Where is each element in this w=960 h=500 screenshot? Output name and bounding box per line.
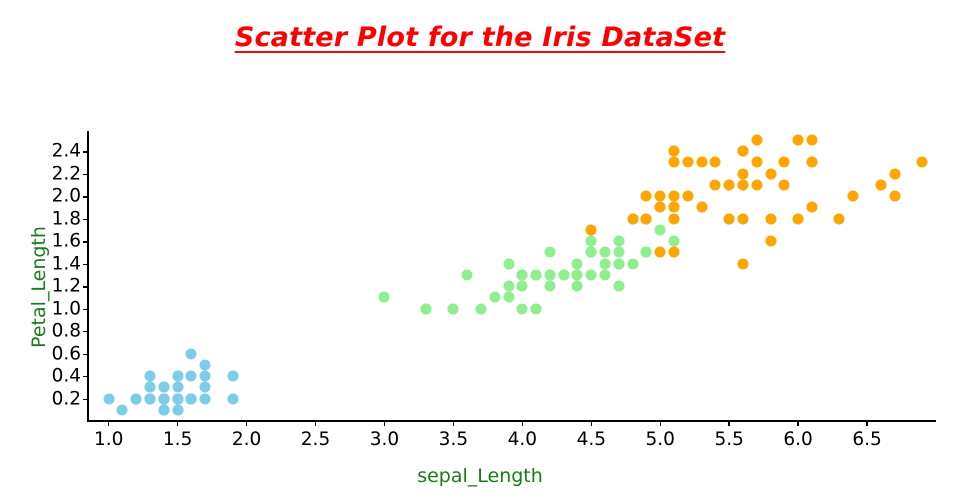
x-tick-label: 2.5 [301, 429, 330, 450]
scatter-point [669, 157, 680, 168]
scatter-point [117, 404, 128, 415]
x-tick-label: 3.5 [439, 429, 468, 450]
scatter-point [544, 247, 555, 258]
y-tick-label: 0.4 [52, 366, 81, 387]
scatter-point [103, 393, 114, 404]
scatter-point [737, 258, 748, 269]
scatter-point [669, 247, 680, 258]
scatter-point [462, 269, 473, 280]
y-tick-mark [83, 376, 88, 377]
scatter-point [586, 224, 597, 235]
y-tick-label: 2.2 [52, 163, 81, 184]
y-tick-label: 0.8 [52, 321, 81, 342]
scatter-point [200, 371, 211, 382]
y-axis-label: Petal_Length [28, 207, 50, 367]
scatter-point [586, 247, 597, 258]
y-tick-mark [83, 174, 88, 175]
scatter-point [172, 393, 183, 404]
scatter-point [586, 269, 597, 280]
scatter-point [682, 191, 693, 202]
x-tick-mark [591, 421, 592, 426]
y-tick-label: 2.0 [52, 186, 81, 207]
scatter-point [641, 213, 652, 224]
scatter-point [158, 404, 169, 415]
scatter-point [737, 146, 748, 157]
x-tick-mark [177, 421, 178, 426]
scatter-point [475, 303, 486, 314]
scatter-point [889, 191, 900, 202]
scatter-point [544, 281, 555, 292]
y-tick-mark [83, 331, 88, 332]
scatter-point [145, 371, 156, 382]
scatter-point [145, 393, 156, 404]
scatter-point [572, 281, 583, 292]
scatter-point [379, 292, 390, 303]
y-tick-mark [83, 219, 88, 220]
x-tick-label: 6.0 [783, 429, 812, 450]
scatter-point [186, 393, 197, 404]
x-tick-label: 5.0 [646, 429, 675, 450]
scatter-point [613, 236, 624, 247]
scatter-point [710, 157, 721, 168]
scatter-point [806, 157, 817, 168]
x-tick-label: 6.5 [852, 429, 881, 450]
scatter-point [558, 269, 569, 280]
scatter-point [669, 202, 680, 213]
scatter-point [600, 269, 611, 280]
scatter-point [200, 382, 211, 393]
x-tick-label: 5.5 [714, 429, 743, 450]
x-tick-label: 3.0 [370, 429, 399, 450]
scatter-point [517, 281, 528, 292]
scatter-point [448, 303, 459, 314]
x-tick-mark [797, 421, 798, 426]
scatter-point [503, 281, 514, 292]
scatter-point [737, 168, 748, 179]
x-tick-mark [866, 421, 867, 426]
scatter-point [145, 382, 156, 393]
scatter-point [793, 134, 804, 145]
scatter-point [682, 157, 693, 168]
x-tick-label: 2.0 [232, 429, 261, 450]
scatter-point [172, 371, 183, 382]
y-tick-label: 0.2 [52, 388, 81, 409]
scatter-point [669, 213, 680, 224]
x-tick-mark [453, 421, 454, 426]
y-tick-label: 1.6 [52, 231, 81, 252]
scatter-point [613, 258, 624, 269]
scatter-point [503, 292, 514, 303]
scatter-point [751, 157, 762, 168]
scatter-point [641, 191, 652, 202]
scatter-point [806, 134, 817, 145]
x-tick-label: 1.0 [94, 429, 123, 450]
scatter-point [200, 359, 211, 370]
scatter-point [669, 191, 680, 202]
x-tick-mark [660, 421, 661, 426]
scatter-point [724, 179, 735, 190]
x-tick-mark [315, 421, 316, 426]
x-axis-label: sepal_Length [0, 465, 960, 487]
x-tick-mark [728, 421, 729, 426]
scatter-point [779, 157, 790, 168]
x-tick-label: 4.5 [577, 429, 606, 450]
scatter-point [158, 393, 169, 404]
scatter-point [531, 303, 542, 314]
scatter-point [627, 258, 638, 269]
scatter-point [572, 258, 583, 269]
scatter-point [655, 191, 666, 202]
scatter-plot-figure: Scatter Plot for the Iris DataSet 0.20.4… [0, 0, 960, 500]
scatter-point [737, 213, 748, 224]
scatter-point [696, 202, 707, 213]
scatter-point [420, 303, 431, 314]
y-tick-mark [83, 399, 88, 400]
scatter-point [186, 348, 197, 359]
scatter-point [806, 202, 817, 213]
y-tick-mark [83, 196, 88, 197]
scatter-point [917, 157, 928, 168]
x-tick-mark [384, 421, 385, 426]
x-tick-mark [522, 421, 523, 426]
x-tick-label: 1.5 [163, 429, 192, 450]
scatter-point [531, 269, 542, 280]
scatter-point [517, 303, 528, 314]
scatter-point [489, 292, 500, 303]
scatter-point [172, 404, 183, 415]
scatter-point [586, 236, 597, 247]
scatter-point [751, 179, 762, 190]
scatter-point [600, 247, 611, 258]
y-tick-mark [83, 354, 88, 355]
y-tick-label: 1.8 [52, 208, 81, 229]
scatter-point [669, 146, 680, 157]
y-tick-mark [83, 151, 88, 152]
y-tick-label: 2.4 [52, 141, 81, 162]
scatter-point [710, 179, 721, 190]
y-tick-label: 0.6 [52, 343, 81, 364]
scatter-point [655, 202, 666, 213]
y-tick-mark [83, 286, 88, 287]
scatter-point [627, 213, 638, 224]
scatter-point [834, 213, 845, 224]
y-tick-mark [83, 309, 88, 310]
y-tick-mark [83, 241, 88, 242]
y-tick-label: 1.4 [52, 253, 81, 274]
scatter-point [613, 281, 624, 292]
chart-title: Scatter Plot for the Iris DataSet [0, 22, 960, 53]
scatter-point [765, 168, 776, 179]
scatter-point [544, 269, 555, 280]
scatter-point [641, 247, 652, 258]
scatter-point [848, 191, 859, 202]
scatter-point [751, 134, 762, 145]
scatter-point [186, 371, 197, 382]
scatter-point [200, 393, 211, 404]
scatter-point [724, 213, 735, 224]
scatter-point [503, 258, 514, 269]
y-tick-label: 1.0 [52, 298, 81, 319]
x-tick-mark [246, 421, 247, 426]
scatter-point [572, 269, 583, 280]
scatter-point [669, 236, 680, 247]
scatter-point [889, 168, 900, 179]
x-tick-mark [108, 421, 109, 426]
scatter-point [517, 269, 528, 280]
x-tick-label: 4.0 [508, 429, 537, 450]
scatter-point [600, 258, 611, 269]
scatter-point [655, 224, 666, 235]
scatter-point [172, 382, 183, 393]
scatter-point [765, 213, 776, 224]
y-tick-mark [83, 264, 88, 265]
scatter-point [655, 247, 666, 258]
scatter-point [875, 179, 886, 190]
scatter-point [779, 179, 790, 190]
scatter-point [696, 157, 707, 168]
scatter-point [227, 371, 238, 382]
scatter-point [793, 213, 804, 224]
scatter-point [158, 382, 169, 393]
scatter-point [613, 247, 624, 258]
scatter-point [227, 393, 238, 404]
scatter-point [765, 236, 776, 247]
scatter-point [131, 393, 142, 404]
y-tick-label: 1.2 [52, 276, 81, 297]
scatter-point [737, 179, 748, 190]
plot-area: 0.20.40.60.81.01.21.41.61.82.02.22.41.01… [88, 131, 936, 421]
